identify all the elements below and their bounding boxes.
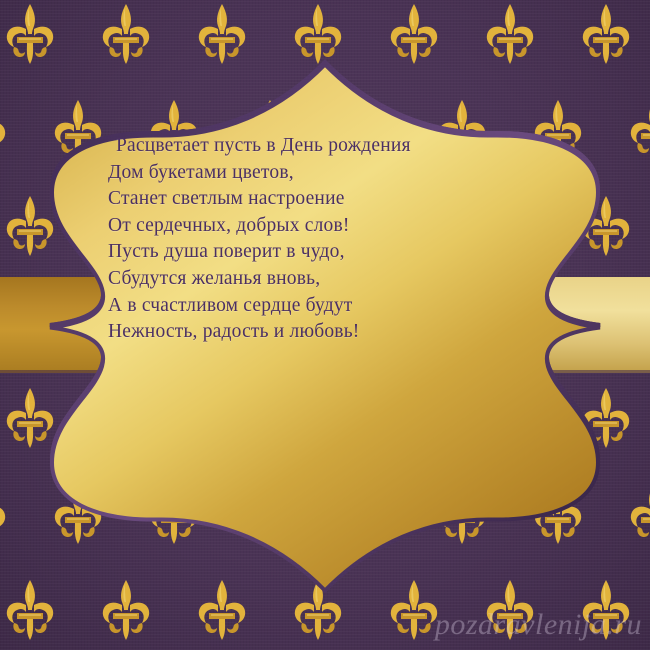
verse-line: А в счастливом сердце будут xyxy=(108,293,528,320)
verse-line: Нежность, радость и любовь! xyxy=(108,319,528,346)
greeting-card: Расцветает пусть в День рожденияДом буке… xyxy=(0,0,650,650)
verse-text: Расцветает пусть в День рожденияДом буке… xyxy=(108,133,528,346)
verse-line: Пусть душа поверит в чудо, xyxy=(108,239,528,266)
verse-line: Дом букетами цветов, xyxy=(108,160,528,187)
verse-line: Станет светлым настроение xyxy=(108,186,528,213)
verse-line: От сердечных, добрых слов! xyxy=(108,213,528,240)
verse-line: Расцветает пусть в День рождения xyxy=(116,133,528,160)
verse-line: Сбудутся желанья вновь, xyxy=(108,266,528,293)
